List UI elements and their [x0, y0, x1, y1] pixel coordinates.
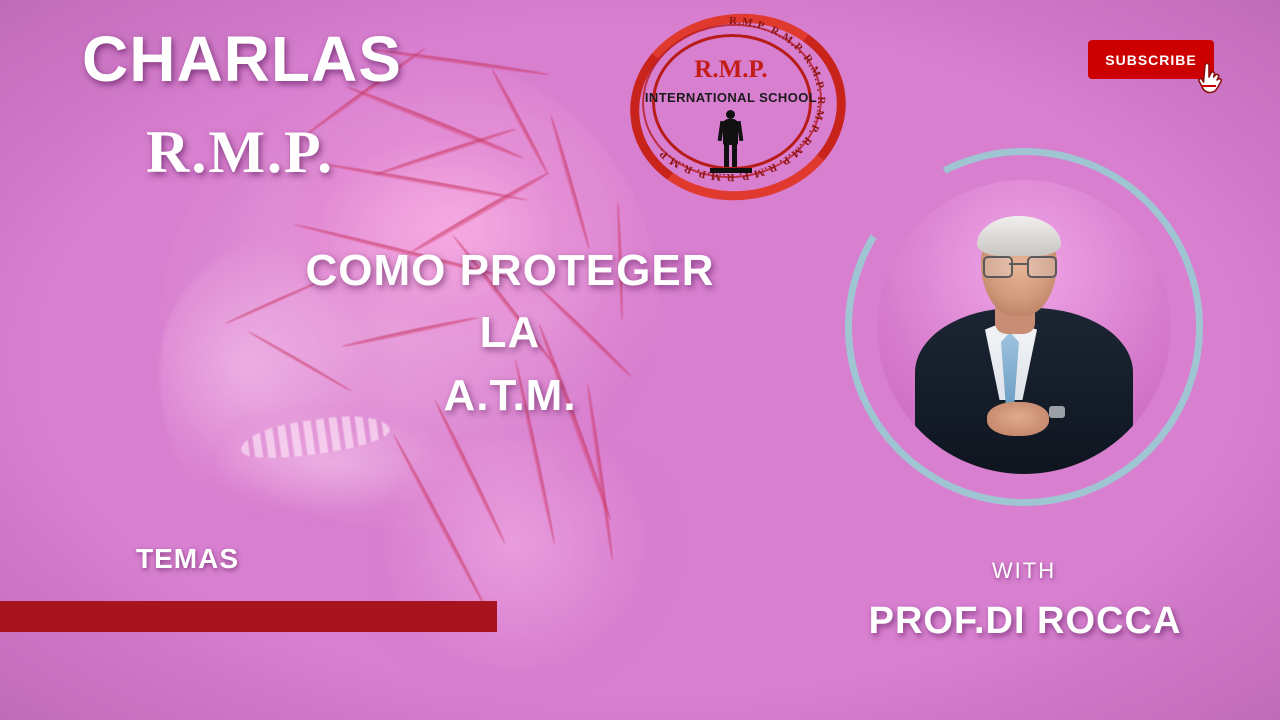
glasses-left-lens-icon: [983, 256, 1013, 278]
with-label: WITH: [845, 558, 1203, 584]
hand-cursor-icon: [1196, 62, 1224, 96]
youtube-thumbnail: CHARLAS R.M.P. COMO PROTEGER LA A.T.M. T…: [0, 0, 1280, 720]
subtitle-block: COMO PROTEGER LA A.T.M.: [180, 240, 840, 427]
presenter-name: PROF.DI ROCCA: [820, 600, 1230, 643]
subtitle-line2: LA: [180, 302, 840, 364]
section-label: TEMAS: [136, 543, 239, 575]
presenter-photo: [877, 180, 1171, 474]
subtitle-line3: A.T.M.: [180, 365, 840, 427]
presenter-hair: [977, 216, 1061, 256]
standing-person-icon: [717, 110, 743, 170]
subtitle-line1: COMO PROTEGER: [180, 240, 840, 302]
title-line1: CHARLAS: [82, 22, 402, 96]
logo-name: R.M.P.: [618, 56, 844, 84]
logo-tagline: INTERNATIONAL SCHOOL: [618, 90, 844, 105]
title-line2: R.M.P.: [146, 118, 334, 187]
accent-bar: [0, 601, 497, 632]
subscribe-button-label: SUBSCRIBE: [1105, 52, 1196, 68]
presenter-hands: [987, 402, 1049, 436]
presenter-watch-icon: [1049, 406, 1065, 418]
logo-figure-base: [710, 168, 752, 173]
rmp-logo: R.M.P. R.M.P. R.M.P. R.M.P. R.M.P. R.M.P…: [618, 8, 844, 198]
presenter-avatar: [845, 148, 1203, 506]
glasses-bridge-icon: [1009, 263, 1027, 265]
glasses-right-lens-icon: [1027, 256, 1057, 278]
